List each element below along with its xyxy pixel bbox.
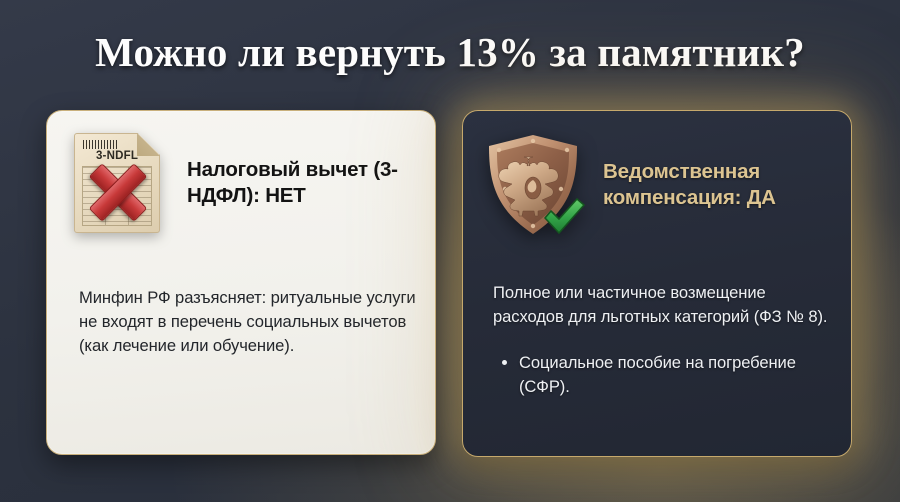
shield-graphic (485, 133, 581, 237)
green-check-icon (541, 194, 587, 238)
card-right-bullet-list: Социальное пособие на погребение (СФР). (493, 351, 838, 399)
slide-canvas: Можно ли вернуть 13% за памятник? 3-NDFL… (0, 0, 900, 502)
document-graphic: 3-NDFL (74, 133, 160, 233)
red-cross-icon (85, 159, 149, 223)
card-right-body-paragraph: Полное или частичное возмещение расходов… (493, 281, 838, 329)
card-left-header: 3-NDFL Налоговый вычет (3-НДФЛ): НЕТ (47, 133, 435, 233)
card-department-compensation: Ведомственная компенсация: ДА Полное или… (462, 110, 852, 457)
card-right-header: Ведомственная компенсация: ДА (463, 133, 851, 237)
tax-declaration-document-icon: 3-NDFL (47, 133, 187, 233)
list-item: Социальное пособие на погребение (СФР). (519, 351, 838, 399)
card-right-heading: Ведомственная компенсация: ДА (603, 159, 851, 211)
card-left-heading: Налоговый вычет (3-НДФЛ): НЕТ (187, 157, 435, 209)
card-right-body: Полное или частичное возмещение расходов… (493, 281, 838, 399)
bronze-shield-emblem-icon (463, 133, 603, 237)
card-left-body: Минфин РФ разъясняет: ритуальные услуги … (79, 286, 419, 358)
page-title: Можно ли вернуть 13% за памятник? (0, 28, 900, 76)
card-tax-deduction: 3-NDFL Налоговый вычет (3-НДФЛ): НЕТ Мин… (46, 110, 436, 455)
barcode-icon (83, 140, 119, 149)
